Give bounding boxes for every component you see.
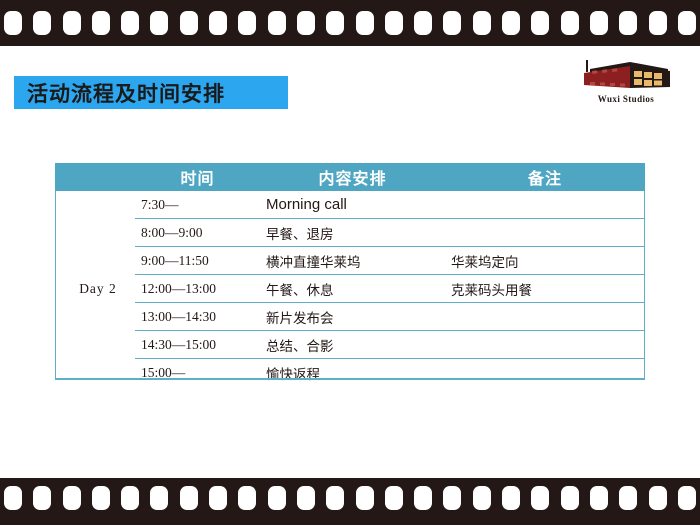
page-title-bar: 活动流程及时间安排 bbox=[14, 76, 288, 109]
film-perforation bbox=[443, 486, 461, 510]
film-perforation bbox=[590, 486, 608, 510]
film-perforation bbox=[4, 486, 22, 510]
cell-remark: 华莱坞定向 bbox=[445, 247, 645, 275]
film-perforation bbox=[92, 486, 110, 510]
film-perforation bbox=[356, 486, 374, 510]
table-row: 9:00—11:50横冲直撞华莱坞华莱坞定向 bbox=[55, 247, 645, 275]
film-perforation bbox=[385, 11, 403, 35]
cell-remark bbox=[445, 191, 645, 219]
film-perforation bbox=[150, 486, 168, 510]
film-perforation bbox=[238, 11, 256, 35]
film-perforation bbox=[678, 11, 696, 35]
film-perforation bbox=[531, 486, 549, 510]
header-remark: 备注 bbox=[445, 163, 645, 191]
logo-caption: Wuxi Studios bbox=[570, 94, 682, 104]
film-perforation bbox=[180, 486, 198, 510]
film-perforation bbox=[590, 11, 608, 35]
film-perforation bbox=[121, 486, 139, 510]
film-perforation bbox=[326, 486, 344, 510]
schedule-table: 时间 内容安排 备注 Day 27:30—Morning call8:00—9:… bbox=[55, 163, 645, 386]
cell-time: 14:30—15:00 bbox=[135, 331, 260, 359]
perforation-row bbox=[4, 11, 696, 35]
film-perforation bbox=[150, 11, 168, 35]
film-perforation bbox=[121, 11, 139, 35]
cell-time: 8:00—9:00 bbox=[135, 219, 260, 247]
film-perforation bbox=[649, 486, 667, 510]
header-item: 内容安排 bbox=[260, 163, 445, 191]
header-day-spacer bbox=[55, 163, 135, 191]
film-perforation bbox=[4, 11, 22, 35]
film-perforation bbox=[414, 11, 432, 35]
cell-time: 7:30— bbox=[135, 191, 260, 219]
cell-item: 午餐、休息 bbox=[260, 275, 445, 303]
film-strip-top bbox=[0, 0, 700, 46]
film-perforation bbox=[561, 11, 579, 35]
table-row: 13:00—14:30新片发布会 bbox=[55, 303, 645, 331]
cell-remark bbox=[445, 359, 645, 387]
page-title: 活动流程及时间安排 bbox=[27, 78, 225, 108]
film-perforation bbox=[619, 486, 637, 510]
film-perforation bbox=[268, 486, 286, 510]
film-perforation bbox=[678, 486, 696, 510]
cell-item: Morning call bbox=[260, 191, 445, 219]
cell-item: 横冲直撞华莱坞 bbox=[260, 247, 445, 275]
film-perforation bbox=[531, 11, 549, 35]
cell-remark: 克莱码头用餐 bbox=[445, 275, 645, 303]
film-perforation bbox=[502, 486, 520, 510]
film-perforation bbox=[619, 11, 637, 35]
film-perforation bbox=[561, 486, 579, 510]
film-perforation bbox=[63, 486, 81, 510]
film-perforation bbox=[209, 486, 227, 510]
cell-time: 15:00— bbox=[135, 359, 260, 387]
studio-building-icon bbox=[570, 58, 682, 94]
table-row: 15:00—愉快返程 bbox=[55, 359, 645, 387]
film-strip-bottom bbox=[0, 478, 700, 525]
film-perforation bbox=[414, 486, 432, 510]
cell-item: 新片发布会 bbox=[260, 303, 445, 331]
film-perforation bbox=[297, 11, 315, 35]
film-perforation bbox=[649, 11, 667, 35]
cell-time: 13:00—14:30 bbox=[135, 303, 260, 331]
cell-time: 9:00—11:50 bbox=[135, 247, 260, 275]
film-perforation bbox=[473, 486, 491, 510]
cell-item: 早餐、退房 bbox=[260, 219, 445, 247]
cell-time: 12:00—13:00 bbox=[135, 275, 260, 303]
film-perforation bbox=[297, 486, 315, 510]
perforation-row bbox=[4, 486, 696, 510]
table-row: 14:30—15:00总结、合影 bbox=[55, 331, 645, 359]
film-perforation bbox=[238, 486, 256, 510]
film-perforation bbox=[268, 11, 286, 35]
logo: Wuxi Studios bbox=[570, 58, 682, 108]
table-row: 12:00—13:00午餐、休息克莱码头用餐 bbox=[55, 275, 645, 303]
film-perforation bbox=[502, 11, 520, 35]
cell-item: 总结、合影 bbox=[260, 331, 445, 359]
film-perforation bbox=[92, 11, 110, 35]
film-perforation bbox=[180, 11, 198, 35]
table-row: 8:00—9:00早餐、退房 bbox=[55, 219, 645, 247]
film-perforation bbox=[356, 11, 374, 35]
table-row: Day 27:30—Morning call bbox=[55, 191, 645, 219]
header-time: 时间 bbox=[135, 163, 260, 191]
cell-remark bbox=[445, 219, 645, 247]
film-perforation bbox=[385, 486, 403, 510]
film-perforation bbox=[209, 11, 227, 35]
film-perforation bbox=[443, 11, 461, 35]
cell-remark bbox=[445, 331, 645, 359]
cell-remark bbox=[445, 303, 645, 331]
film-perforation bbox=[63, 11, 81, 35]
film-perforation bbox=[326, 11, 344, 35]
film-perforation bbox=[473, 11, 491, 35]
film-perforation bbox=[33, 11, 51, 35]
film-perforation bbox=[33, 486, 51, 510]
cell-item: 愉快返程 bbox=[260, 359, 445, 387]
day-label-cell: Day 2 bbox=[55, 191, 135, 386]
table-header-row: 时间 内容安排 备注 bbox=[55, 163, 645, 191]
